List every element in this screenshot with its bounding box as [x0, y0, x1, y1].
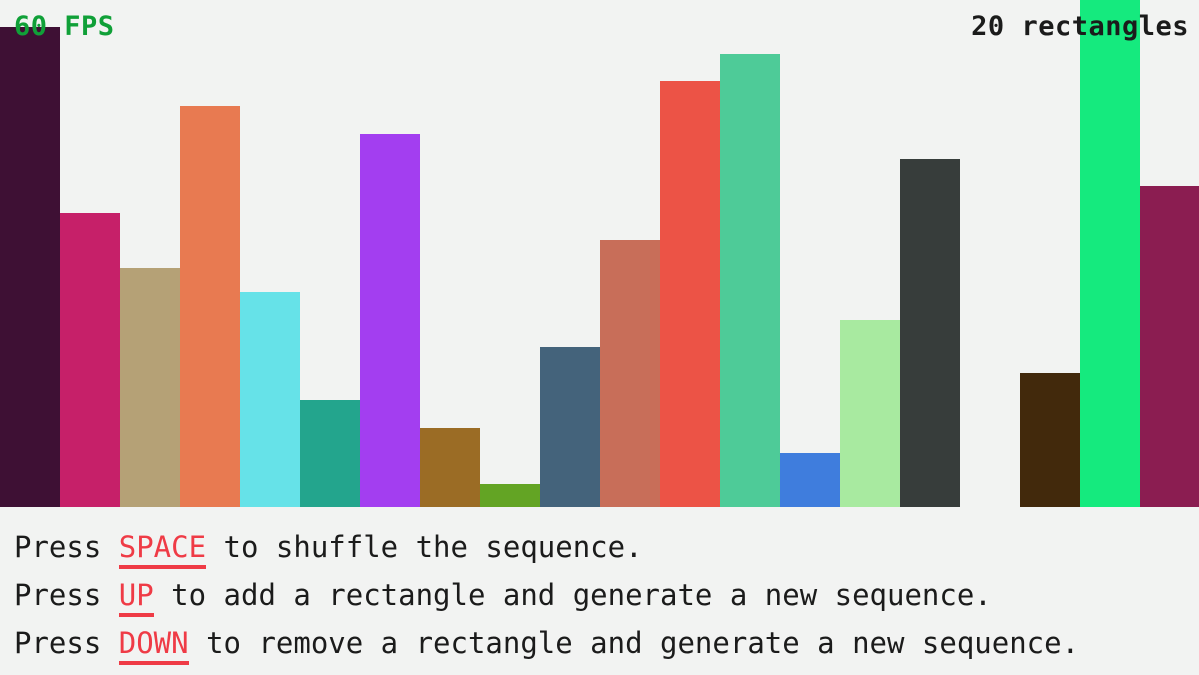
- instruction-prefix: Press: [14, 530, 119, 564]
- bar-12: [660, 81, 720, 507]
- bar-11: [600, 240, 660, 507]
- bar-18: [1020, 373, 1080, 507]
- key-up[interactable]: UP: [119, 578, 154, 617]
- rectangle-count-label: 20 rectangles: [971, 13, 1189, 40]
- bar-8: [420, 428, 480, 507]
- instruction-suffix: to shuffle the sequence.: [206, 530, 643, 564]
- bar-1: [0, 27, 60, 507]
- bar-20: [1140, 186, 1199, 507]
- key-down[interactable]: DOWN: [119, 626, 189, 665]
- bar-10: [540, 347, 600, 507]
- bar-5: [240, 292, 300, 507]
- instruction-line-shuffle: Press SPACE to shuffle the sequence.: [14, 523, 1199, 571]
- bar-19: [1080, 0, 1140, 507]
- fps-counter: 60 FPS: [14, 13, 115, 40]
- bar-7: [360, 134, 420, 507]
- bar-9: [480, 484, 540, 507]
- bar-15: [840, 320, 900, 507]
- bar-14: [780, 453, 840, 507]
- bar-4: [180, 106, 240, 507]
- instruction-line-add: Press UP to add a rectangle and generate…: [14, 571, 1199, 619]
- bar-chart-canvas[interactable]: [0, 0, 1199, 507]
- instruction-suffix: to remove a rectangle and generate a new…: [189, 626, 1079, 660]
- key-space[interactable]: SPACE: [119, 530, 206, 569]
- instruction-prefix: Press: [14, 578, 119, 612]
- bar-16: [900, 159, 960, 507]
- bar-13: [720, 54, 780, 507]
- bar-6: [300, 400, 360, 507]
- instruction-line-remove: Press DOWN to remove a rectangle and gen…: [14, 619, 1199, 667]
- rectangle-visualizer-app: 60 FPS 20 rectangles Press SPACE to shuf…: [0, 0, 1199, 675]
- instruction-prefix: Press: [14, 626, 119, 660]
- instruction-suffix: to add a rectangle and generate a new se…: [154, 578, 992, 612]
- bar-3: [120, 268, 180, 507]
- instructions-panel: Press SPACE to shuffle the sequence. Pre…: [0, 507, 1199, 675]
- bar-2: [60, 213, 120, 507]
